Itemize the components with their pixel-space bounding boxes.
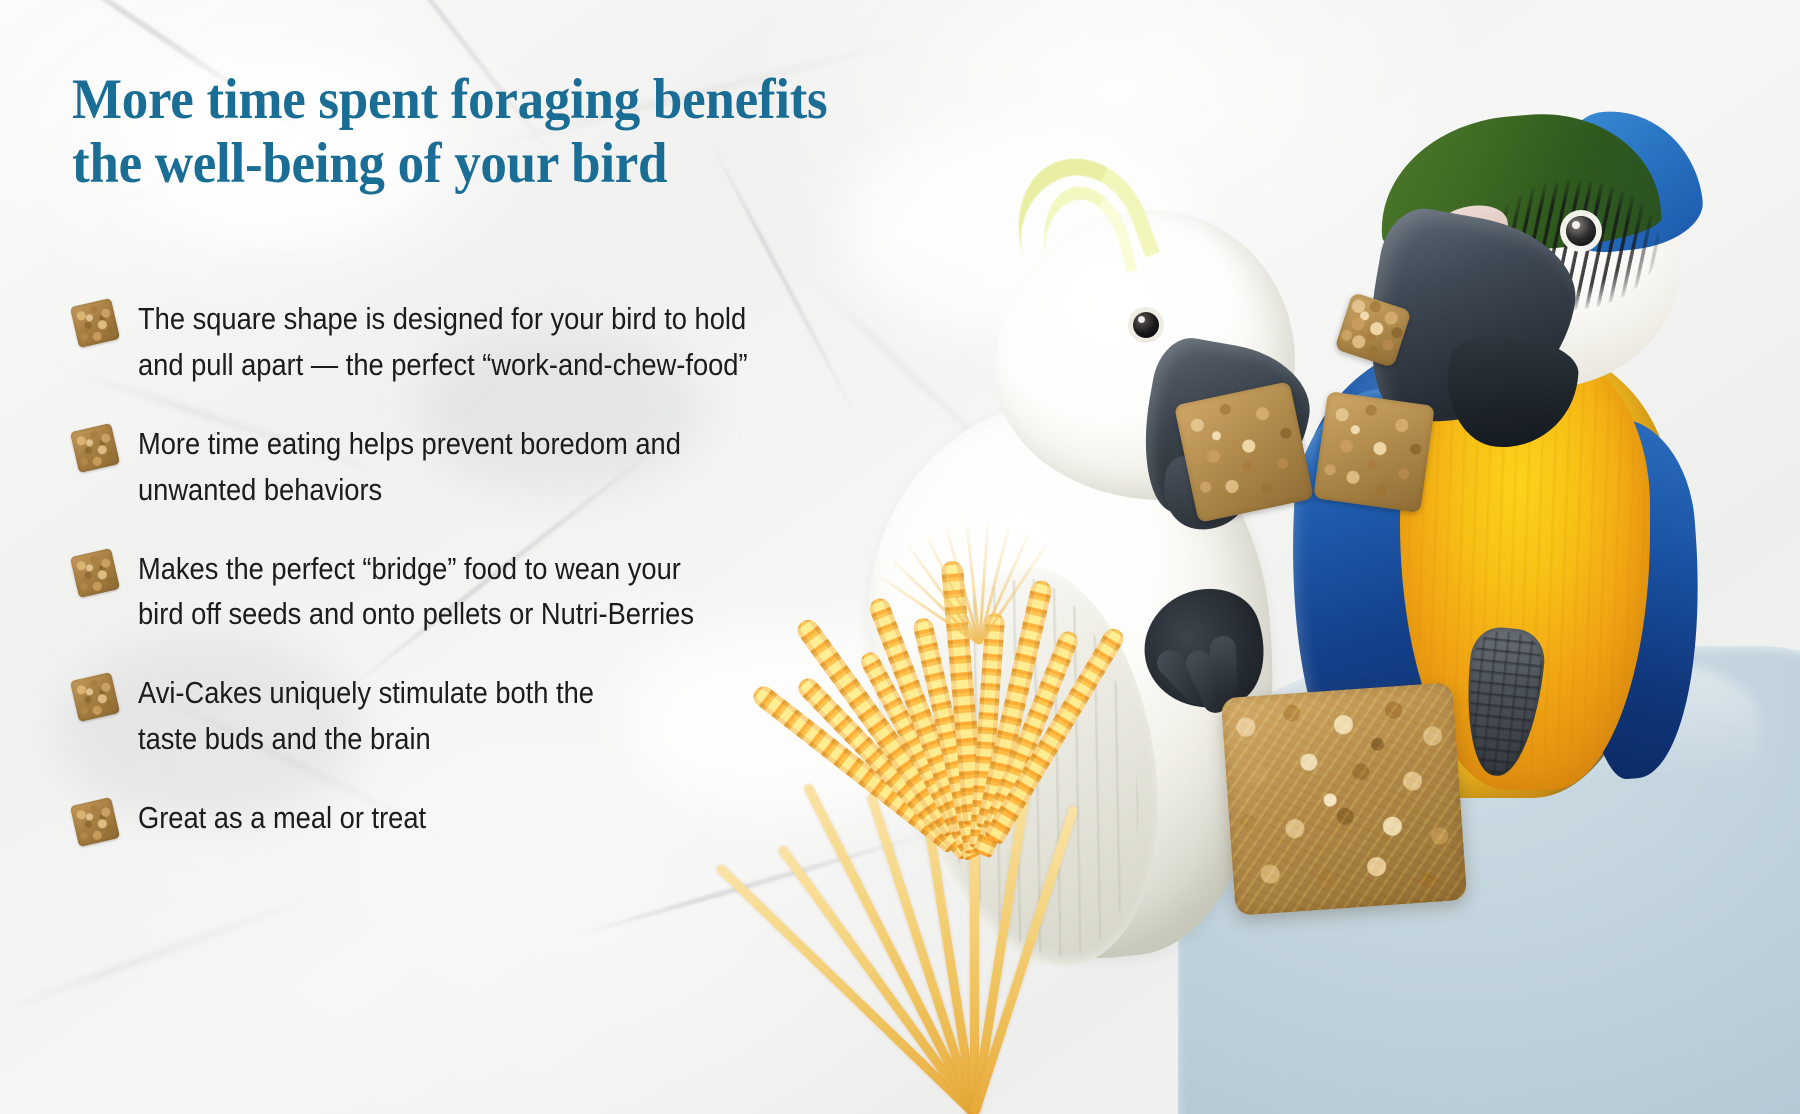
page-title-line-2: the well-being of your bird	[72, 132, 965, 196]
list-item: Makes the perfect “bridge” food to wean …	[74, 546, 994, 638]
list-item-label: The square shape is designed for your bi…	[138, 296, 748, 388]
benefits-list: The square shape is designed for your bi…	[74, 296, 994, 843]
avi-cake-square-icon	[70, 298, 120, 348]
list-item-label: Avi-Cakes uniquely stimulate both the ta…	[138, 670, 594, 762]
list-item: Great as a meal or treat	[74, 795, 994, 843]
list-item-label: Great as a meal or treat	[138, 795, 426, 841]
list-item: More time eating helps prevent boredom a…	[74, 421, 994, 513]
page-title: More time spent foraging benefits the we…	[72, 68, 965, 196]
avi-cake-square-icon	[70, 672, 120, 722]
page-title-line-1: More time spent foraging benefits	[72, 68, 965, 132]
avi-cake-square-icon	[70, 797, 120, 847]
avi-cake-square-icon	[70, 423, 120, 473]
list-item-label: More time eating helps prevent boredom a…	[138, 421, 681, 513]
list-item: Avi-Cakes uniquely stimulate both the ta…	[74, 670, 994, 762]
list-item: The square shape is designed for your bi…	[74, 296, 994, 388]
list-item-label: Makes the perfect “bridge” food to wean …	[138, 546, 694, 638]
avi-cake-square-icon	[70, 547, 120, 597]
infographic-canvas: More time spent foraging benefits the we…	[0, 0, 1800, 1114]
